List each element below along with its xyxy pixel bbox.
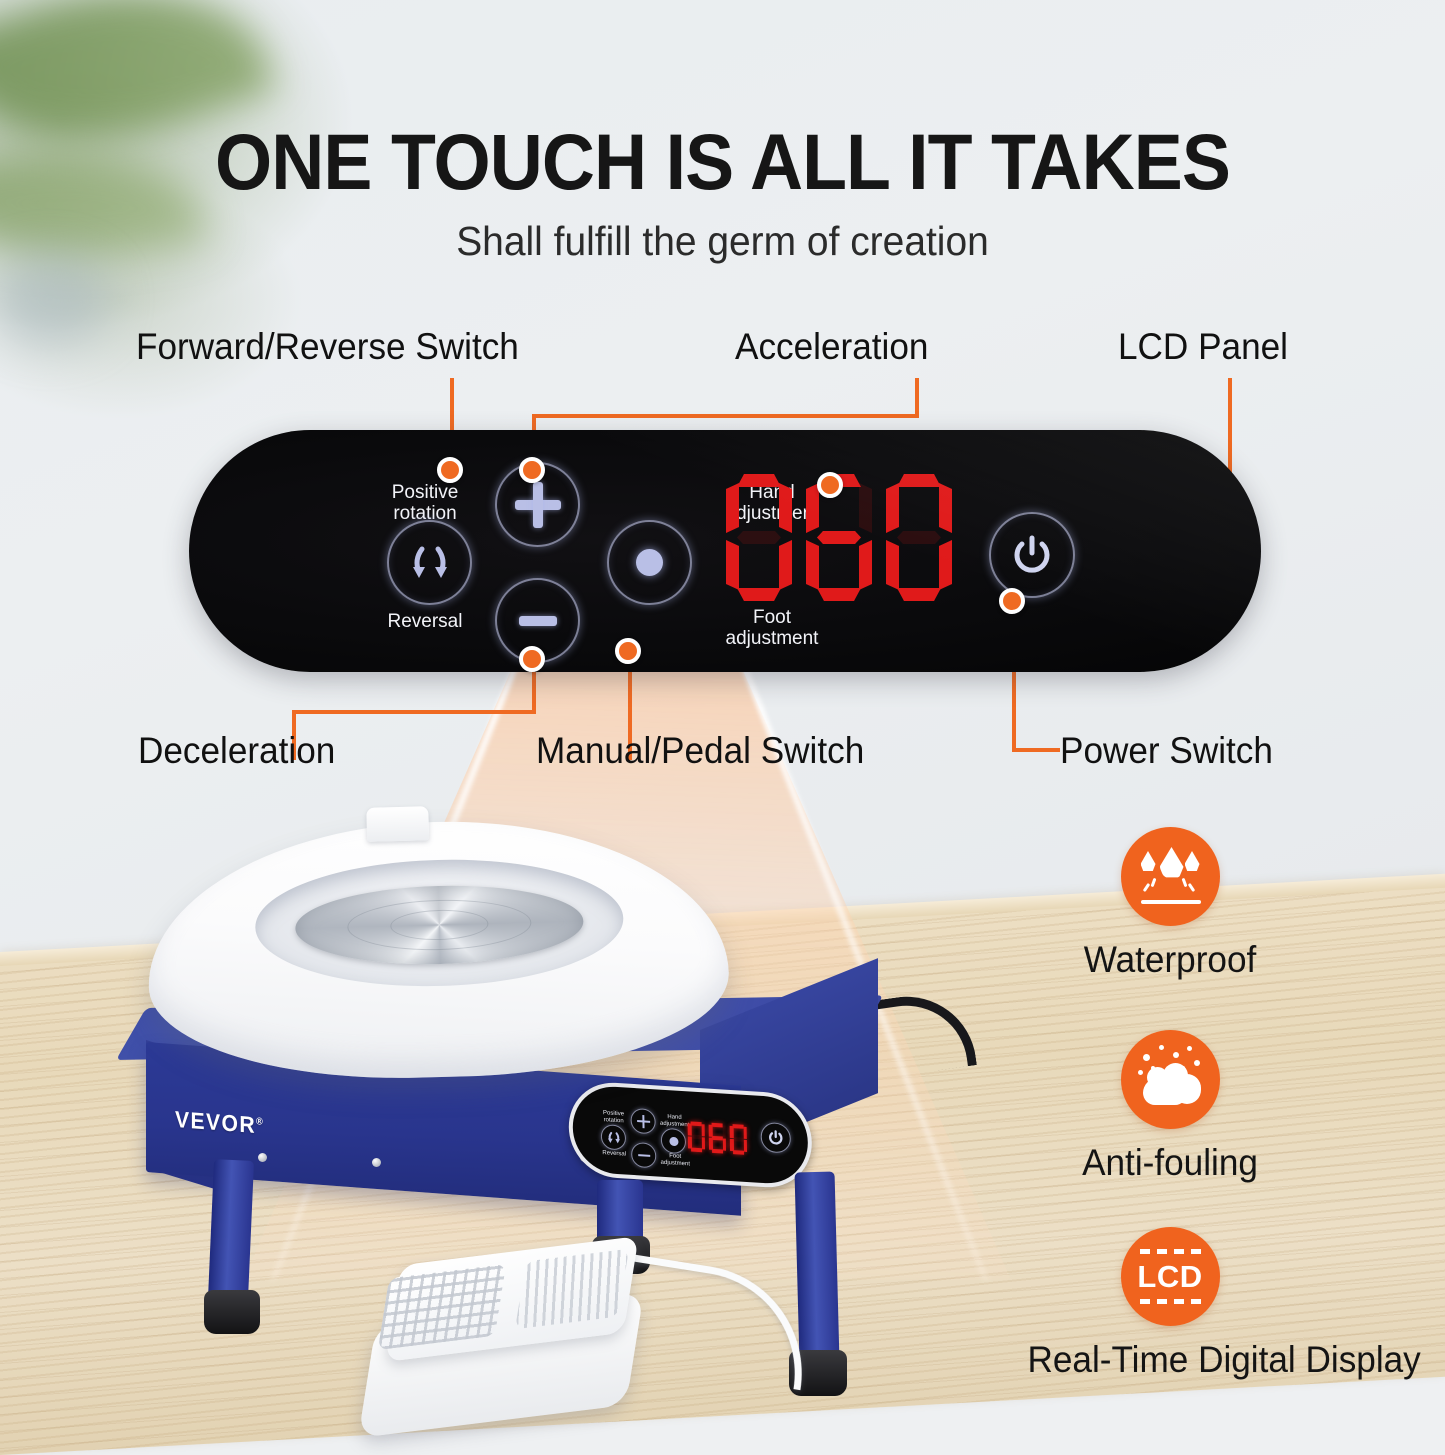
mini-label-positive-rotation: Positive rotation [594,1110,632,1126]
forward-reverse-button[interactable] [387,520,472,605]
lcd-icon: LCD [1121,1227,1220,1326]
callout-label-lcd-panel: LCD Panel [1118,326,1288,368]
callout-label-manual-pedal: Manual/Pedal Switch [536,730,864,772]
feature-waterproof: Waterproof [1020,827,1320,981]
screw-icon [258,1153,267,1162]
mini-power-button[interactable] [760,1122,791,1154]
mini-lcd-digit [688,1121,706,1152]
mini-manual-pedal-button[interactable] [661,1128,686,1155]
control-panel: Positive rotation Reversal Hand adjustme… [189,430,1261,672]
page-subtitle: Shall fulfill the germ of creation [36,218,1409,265]
label-positive-rotation: Positive rotation [365,482,485,524]
mini-forward-reverse-button[interactable] [601,1124,626,1151]
foot-dot-icon [636,549,663,576]
screw-icon [372,1158,381,1167]
mini-lcd-digit [709,1123,727,1154]
rubber-foot [204,1290,260,1334]
water-drops-icon [1121,827,1220,926]
feature-label: Anti-fouling [1028,1142,1313,1184]
page-title: ONE TOUCH IS ALL IT TAKES [51,116,1395,208]
lcd-badge-text: LCD [1121,1227,1220,1326]
power-button[interactable] [989,512,1075,598]
basin-spout [366,806,429,842]
feature-label: Real-Time Digital Display [1028,1339,1313,1381]
callout-line-lcd [1228,378,1232,482]
mini-label-foot-adjustment: Foot adjustment [657,1152,693,1167]
machine-leg [597,1180,643,1242]
callout-line-acceleration [532,414,919,418]
callout-label-power-switch: Power Switch [1060,730,1273,772]
marker-dot-deceleration [519,646,545,672]
mini-acceleration-button[interactable] [630,1108,655,1135]
marker-dot-acceleration [519,457,545,483]
callout-line-power [1012,748,1060,752]
feature-label: Waterproof [1028,939,1313,981]
reversal-arrows-icon [406,539,454,587]
machine-leg [795,1172,840,1363]
callout-label-acceleration: Acceleration [735,326,928,368]
machine-lcd-display [688,1121,752,1155]
mini-deceleration-button[interactable] [631,1142,656,1169]
label-foot-adjustment: Foot adjustment [697,607,847,649]
callout-line-deceleration [292,710,536,714]
callout-line-acceleration [915,378,919,416]
label-reversal: Reversal [370,611,480,632]
power-icon [1008,531,1056,579]
product-infographic: ONE TOUCH IS ALL IT TAKES Shall fulfill … [0,0,1445,1445]
marker-dot-forward-reverse [437,457,463,483]
lcd-digit [886,474,952,602]
mini-power-icon [767,1128,785,1147]
machine-leg [208,1159,254,1301]
callout-label-deceleration: Deceleration [138,730,335,772]
feature-anti-fouling: Anti-fouling [1020,1030,1320,1184]
marker-dot-power [999,588,1025,614]
mini-label-reversal: Reversal [597,1150,631,1159]
marker-dot-lcd [817,472,843,498]
lcd-display [726,474,961,602]
callout-label-forward-reverse: Forward/Reverse Switch [136,326,519,368]
lcd-digit [726,474,792,602]
feature-lcd-display: LCD Real-Time Digital Display [1020,1227,1320,1381]
mini-lcd-digit [730,1124,748,1155]
dust-cloud-icon [1121,1030,1220,1129]
mini-reversal-arrows-icon [606,1129,622,1146]
manual-pedal-button[interactable] [607,520,692,605]
machine-control-panel[interactable]: Positive rotation Reversal Hand adjustme… [568,1080,813,1190]
marker-dot-manual-pedal [615,638,641,664]
